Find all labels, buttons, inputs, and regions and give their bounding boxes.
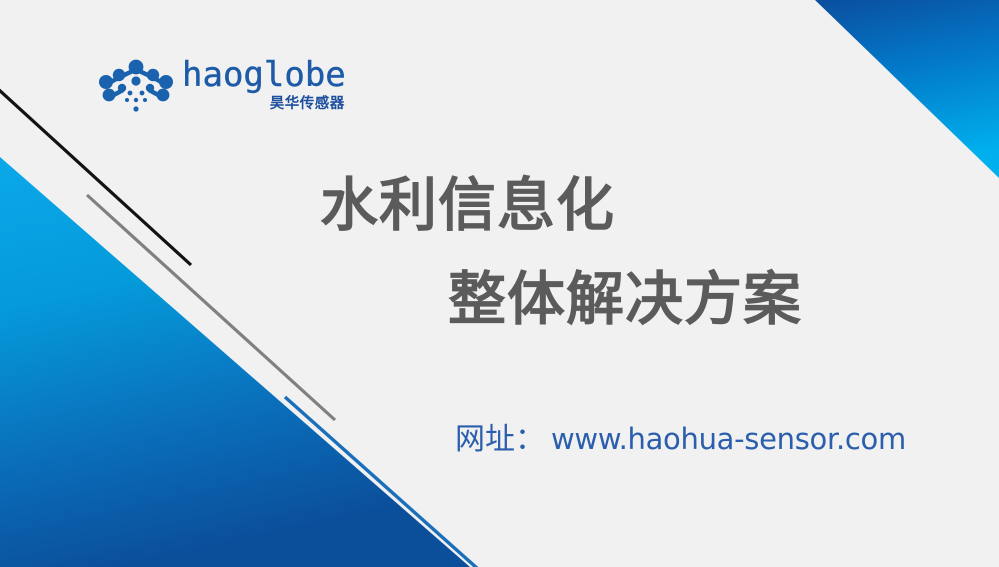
blue-diagonal-line: [285, 397, 478, 567]
logo-text-block: haoglobe 昊华传感器: [182, 57, 346, 113]
network-nodes-icon: [97, 59, 175, 115]
website-line: 网址： www.haohua-sensor.com: [455, 420, 906, 459]
presentation-slide: haoglobe 昊华传感器 水利信息化 整体解决方案 网址： www.haoh…: [0, 0, 999, 567]
logo-wordmark: haoglobe: [182, 57, 346, 93]
title-line-2: 整体解决方案: [448, 262, 802, 336]
company-logo: haoglobe 昊华传感器: [97, 57, 312, 123]
website-label: 网址：: [455, 421, 545, 459]
gray-diagonal-line: [87, 195, 335, 420]
logo-chinese-name: 昊华传感器: [270, 95, 345, 113]
top-right-blue-triangle: [815, 0, 999, 178]
title-line-1: 水利信息化: [320, 168, 615, 242]
website-url[interactable]: www.haohua-sensor.com: [551, 420, 906, 458]
